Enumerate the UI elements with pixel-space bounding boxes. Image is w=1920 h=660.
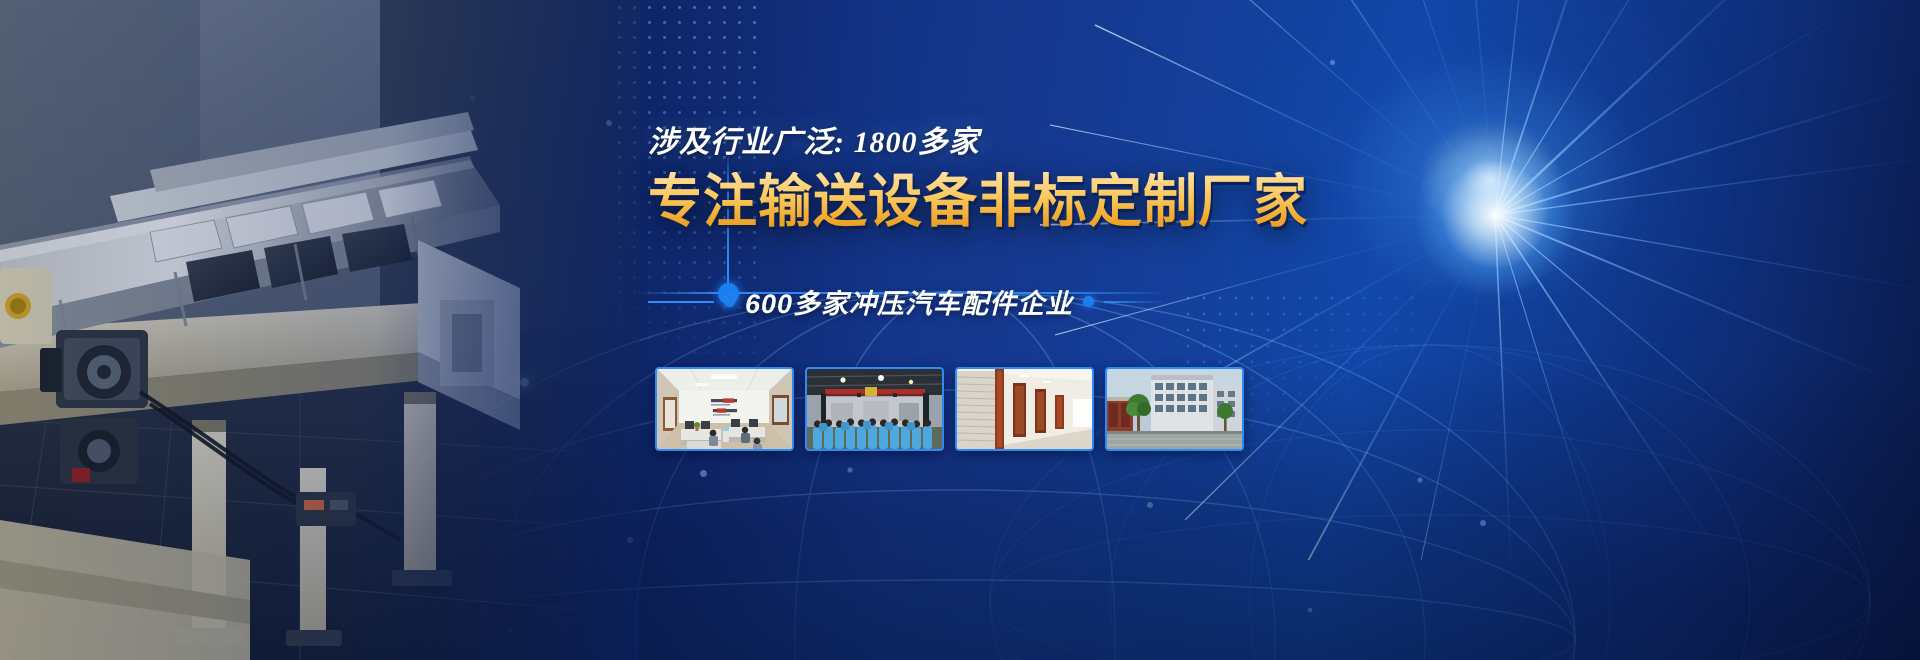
subtitle-dot-right xyxy=(1083,296,1094,307)
thumbnail-strip xyxy=(655,367,1244,451)
thumbnail-team-group[interactable] xyxy=(805,367,944,451)
page-title: 专注输送设备非标定制厂家 xyxy=(648,172,1348,232)
light-burst-core xyxy=(1415,135,1575,295)
floating-dot xyxy=(1480,520,1486,526)
thumbnail-office-workstations[interactable] xyxy=(655,367,794,451)
kicker-text: 涉及行业广泛: 1800多家 xyxy=(648,128,1348,158)
photo-tint-overlay xyxy=(0,0,640,660)
floating-dot xyxy=(700,470,707,477)
thumbnail-corridor[interactable] xyxy=(955,367,1094,451)
floating-dot xyxy=(1330,60,1335,65)
factory-building-photo xyxy=(1107,369,1242,449)
hero-banner: 涉及行业广泛: 1800多家 专注输送设备非标定制厂家 600多家冲压汽车配件企… xyxy=(0,0,1920,660)
subtitle-dash-right xyxy=(1104,301,1166,303)
thumbnail-factory-building[interactable] xyxy=(1105,367,1244,451)
subtitle-text: 600多家冲压汽车配件企业 xyxy=(745,282,1073,321)
subtitle-dot-left xyxy=(724,296,735,307)
team-group-photo xyxy=(807,369,942,449)
headline-group: 涉及行业广泛: 1800多家 专注输送设备非标定制厂家 xyxy=(648,128,1348,229)
office-workstations-photo xyxy=(657,369,792,449)
subtitle-dash-left xyxy=(648,301,714,303)
conveyor-machinery-photo xyxy=(0,0,640,660)
subtitle-row: 600多家冲压汽车配件企业 xyxy=(648,282,1166,321)
corridor-photo xyxy=(957,369,1092,449)
